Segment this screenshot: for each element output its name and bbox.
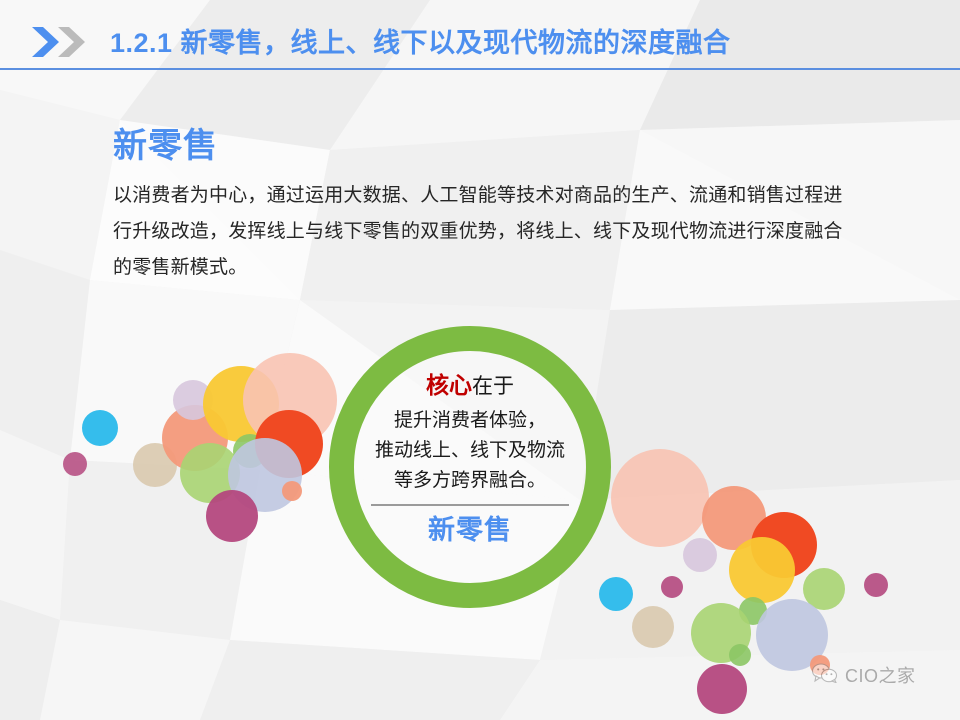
decorative-bubble [661,576,683,598]
core-body-line: 等多方跨界融合。 [355,466,585,496]
decorative-bubble [683,538,717,572]
decorative-bubble [82,410,118,446]
decorative-bubble [599,577,633,611]
core-label: 新零售 [355,512,585,548]
core-body-line: 提升消费者体验， [355,406,585,436]
core-keyword: 核心 [426,372,472,398]
core-headline: 核心在于 [355,370,585,402]
decorative-bubble [611,449,709,547]
core-keyword-suffix: 在于 [472,375,514,398]
decorative-bubble [63,452,87,476]
watermark: CIO之家 [812,662,916,688]
core-divider [371,504,569,506]
slide-root: 1.2.1 新零售，线上、线下以及现代物流的深度融合 新零售 以消费者为中心，通… [0,0,960,720]
decorative-bubble [864,573,888,597]
wechat-icon [812,663,838,688]
decorative-bubble [206,490,258,542]
decorative-bubble [729,537,795,603]
decorative-bubble [282,481,302,501]
core-body-text: 提升消费者体验， 推动线上、线下及物流 等多方跨界融合。 [355,406,585,496]
watermark-text: CIO之家 [845,662,916,688]
decorative-bubble [632,606,674,648]
core-body-line: 推动线上、线下及物流 [355,436,585,466]
decorative-bubble [697,664,747,714]
decorative-bubble [729,644,751,666]
core-concept-content: 核心在于 提升消费者体验， 推动线上、线下及物流 等多方跨界融合。 新零售 [355,370,585,548]
